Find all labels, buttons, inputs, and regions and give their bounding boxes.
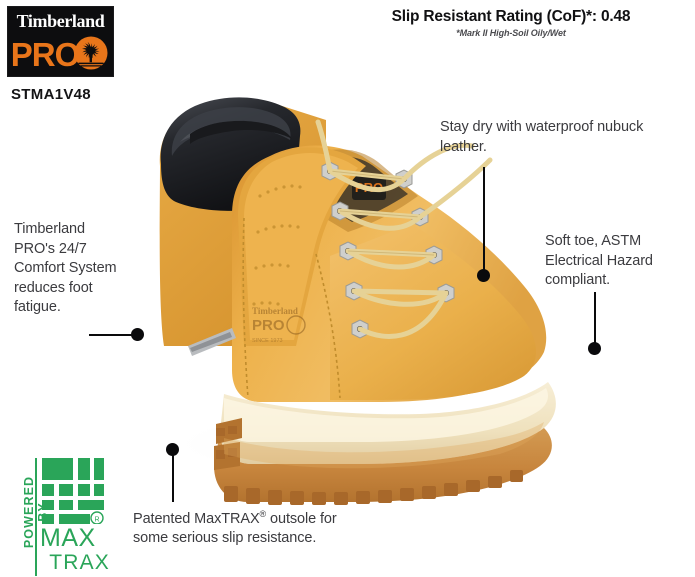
brand-wordmark: Timberland [8, 12, 113, 30]
page-subtitle: *Mark II High-Soil Oily/Wet [330, 28, 692, 38]
maxtrax-name-top: MAX [40, 526, 110, 551]
product-image-work-boot: PRO [120, 46, 590, 506]
callout-outsole-text-before: Patented MaxTRAX [133, 511, 260, 527]
brand-pro-row: PRO [8, 32, 113, 76]
callout-waterproof-dot [477, 269, 490, 282]
callout-comfort-system-dot [131, 328, 144, 341]
callout-outsole-label: Patented MaxTRAX® outsole for some serio… [133, 508, 373, 549]
svg-text:PRO: PRO [252, 317, 285, 334]
callout-soft-toe-line [594, 292, 596, 348]
maxtrax-wordmark: MAX TRAX [40, 526, 110, 573]
slip-rating-header: Slip Resistant Rating (CoF)*: 0.48 *Mark… [330, 8, 692, 38]
brand-pro-text: PRO [11, 38, 80, 71]
callout-waterproof-label: Stay dry with waterproof nubuck leather. [440, 118, 670, 157]
callout-soft-toe-label: Soft toe, ASTM Electrical Hazard complia… [545, 232, 695, 291]
maxtrax-logo: POWERED BY [6, 452, 110, 577]
product-model-number: STMA1V48 [11, 86, 91, 103]
timberland-pro-logo: Timberland PRO [7, 6, 114, 77]
maxtrax-divider [35, 458, 37, 576]
product-infographic: Timberland PRO STMA1V48 Slip Resistant R… [0, 0, 695, 577]
callout-outsole-dot [166, 443, 179, 456]
callout-outsole-line [172, 452, 174, 502]
svg-text:R: R [94, 517, 99, 524]
callout-waterproof-line [483, 167, 485, 275]
maxtrax-name-bottom: TRAX [40, 552, 110, 573]
timberland-tree-icon [72, 36, 110, 72]
page-title: Slip Resistant Rating (CoF)*: 0.48 [330, 8, 692, 26]
callout-comfort-system-line [89, 334, 137, 336]
svg-text:SINCE 1973: SINCE 1973 [252, 338, 283, 344]
callout-comfort-system-label: Timberland PRO's 24/7 Comfort System red… [14, 220, 126, 318]
callout-soft-toe-dot [588, 342, 601, 355]
maxtrax-grid-icon: R [42, 458, 104, 524]
svg-text:Timberland: Timberland [252, 306, 298, 316]
